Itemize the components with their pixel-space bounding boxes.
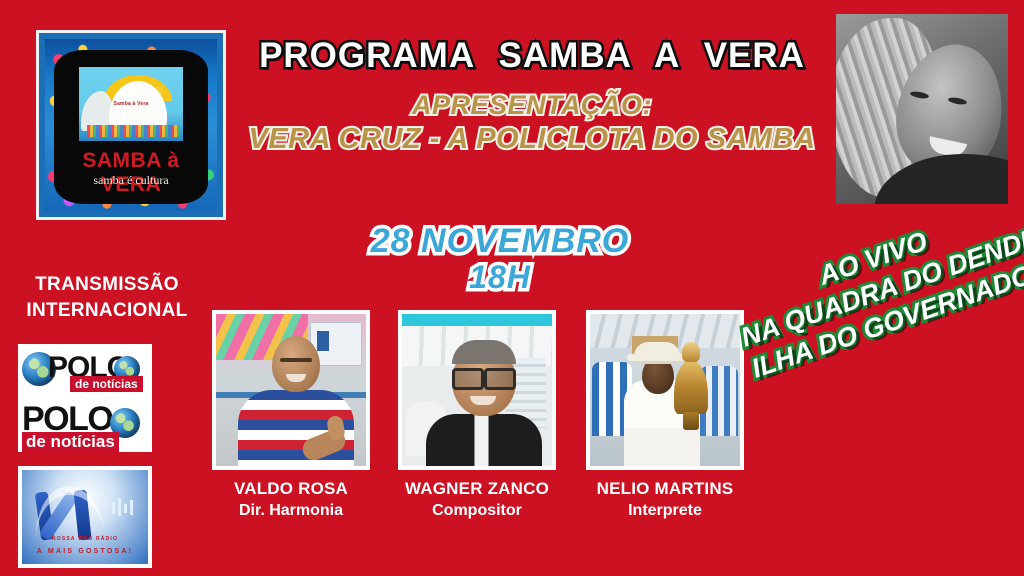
logo-inner-panel: Samba à Vera SAMBA à VERA samba é cultur… <box>57 53 205 201</box>
broadcast-line-2: INTERNACIONAL <box>14 298 200 324</box>
page-title: PROGRAMA SAMBA A VERA <box>232 36 832 76</box>
guest-card: VALDO ROSA Dir. Harmonia <box>212 310 370 520</box>
guest-role: Dir. Harmonia <box>212 502 370 520</box>
radio-line-2: A MAIS GOSTOSA! <box>22 548 148 555</box>
guest-photo <box>398 310 556 470</box>
radio-logo-inner: NOSSA WEB RÁDIO A MAIS GOSTOSA! <box>22 470 148 564</box>
polo-logo-variant-bottom: POLO de notícias <box>18 398 152 452</box>
guest-card: WAGNER ZANCO Compositor <box>398 310 556 520</box>
logo-tagline: samba é cultura <box>57 173 205 188</box>
web-radio-logo: NOSSA WEB RÁDIO A MAIS GOSTOSA! <box>18 466 152 568</box>
presenter-name: VERA CRUZ - A POLICLOTA DO SAMBA <box>232 122 832 156</box>
polo-subtitle-top: de notícias <box>70 376 143 392</box>
trophy-top <box>682 342 700 362</box>
broadcast-label: TRANSMISSÃO INTERNACIONAL <box>14 272 200 323</box>
guest-name: NELIO MARTINS <box>586 479 744 499</box>
guest-name: WAGNER ZANCO <box>398 479 556 499</box>
polo-noticias-logo: POLO de notícias POLO de notícias <box>18 344 152 452</box>
presentation-block: APRESENTAÇÃO: VERA CRUZ - A POLICLOTA DO… <box>232 90 832 156</box>
guest-name: VALDO ROSA <box>212 479 370 499</box>
show-logo: Samba à Vera SAMBA à VERA samba é cultur… <box>36 30 226 220</box>
guest-photo <box>586 310 744 470</box>
logo-illustration: Samba à Vera <box>79 67 183 141</box>
crowd-strip <box>87 125 179 137</box>
event-time: 18H <box>330 260 670 296</box>
audio-bars-icon <box>112 496 134 518</box>
host-portrait-photo <box>836 14 1008 204</box>
polo-logo-variant-top: POLO de notícias <box>18 344 152 398</box>
eyeglasses-icon <box>452 368 516 384</box>
logo-art-label: Samba à Vera <box>114 101 149 107</box>
poster-canvas: Samba à Vera SAMBA à VERA samba é cultur… <box>0 0 1024 576</box>
guest-role: Compositor <box>398 502 556 520</box>
panama-hat-icon <box>634 342 680 360</box>
guest-role: Interprete <box>586 502 744 520</box>
guest-card: NELIO MARTINS Interprete <box>586 310 744 520</box>
guest-head <box>642 356 674 394</box>
live-callout: AO VIVO NA QUADRA DO DENDE ILHA DO GOVER… <box>726 194 1024 385</box>
guest-polo-shirt <box>426 414 542 466</box>
radio-line-1: NOSSA WEB RÁDIO <box>22 536 148 542</box>
broadcast-line-1: TRANSMISSÃO <box>14 272 200 298</box>
guest-brow <box>280 358 312 362</box>
headline-block: PROGRAMA SAMBA A VERA APRESENTAÇÃO: VERA… <box>232 36 832 156</box>
guest-photo <box>212 310 370 470</box>
guest-head <box>272 336 320 392</box>
event-datetime: 28 NOVEMBRO 18H <box>330 222 670 296</box>
presentation-label: APRESENTAÇÃO: <box>232 90 832 122</box>
event-date: 28 NOVEMBRO <box>330 222 670 260</box>
polo-subtitle-bottom: de notícias <box>22 432 119 452</box>
